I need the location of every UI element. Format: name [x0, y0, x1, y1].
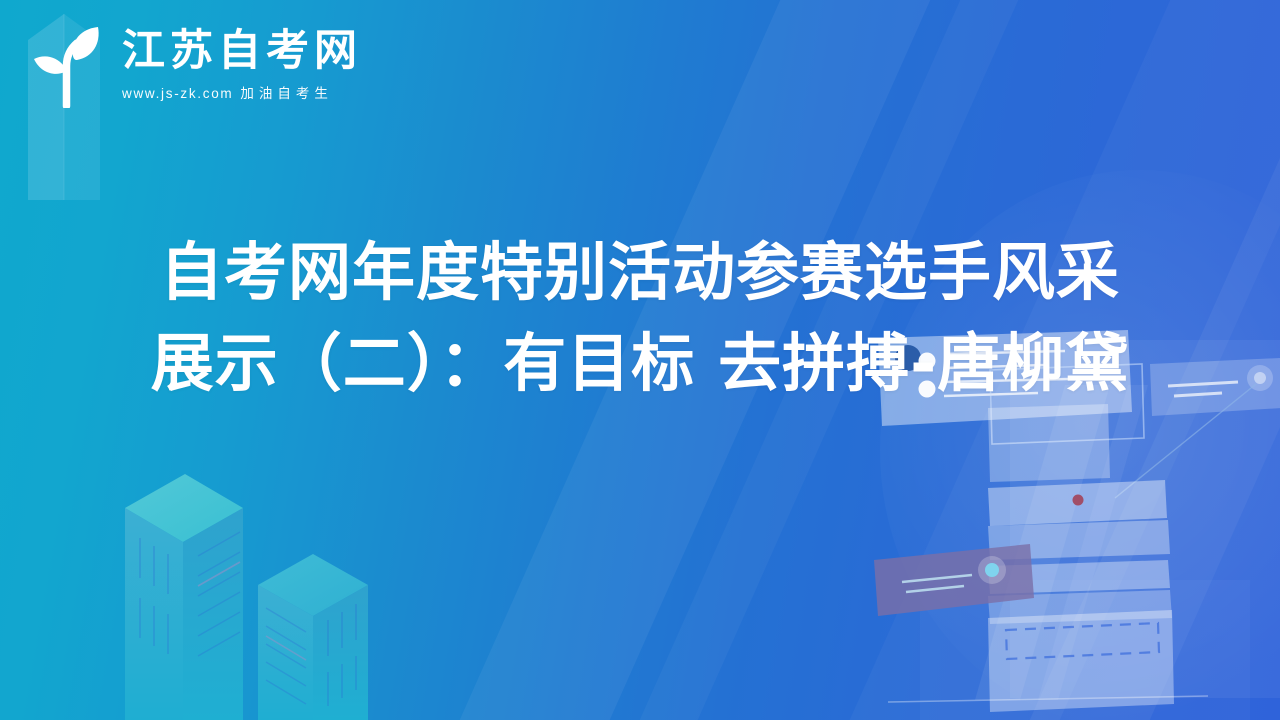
isometric-towers-decoration [70, 460, 410, 720]
promo-banner: 江苏自考网 www.js-zk.com加油自考生 [0, 0, 1280, 720]
logo-url: www.js-zk.com [122, 86, 233, 101]
page-title: 自考网年度特别活动参赛选手风采展示（二）：有目标 去拼搏-唐柳黛 [150, 228, 1130, 409]
tower-short [258, 554, 368, 720]
logo-title: 江苏自考网 [122, 28, 362, 74]
site-logo[interactable]: 江苏自考网 www.js-zk.com加油自考生 [30, 22, 362, 108]
tower-tall [125, 474, 243, 720]
logo-subtitle: www.js-zk.com加油自考生 [122, 82, 362, 102]
sprout-icon [30, 22, 108, 108]
logo-slogan: 加油自考生 [240, 86, 333, 101]
